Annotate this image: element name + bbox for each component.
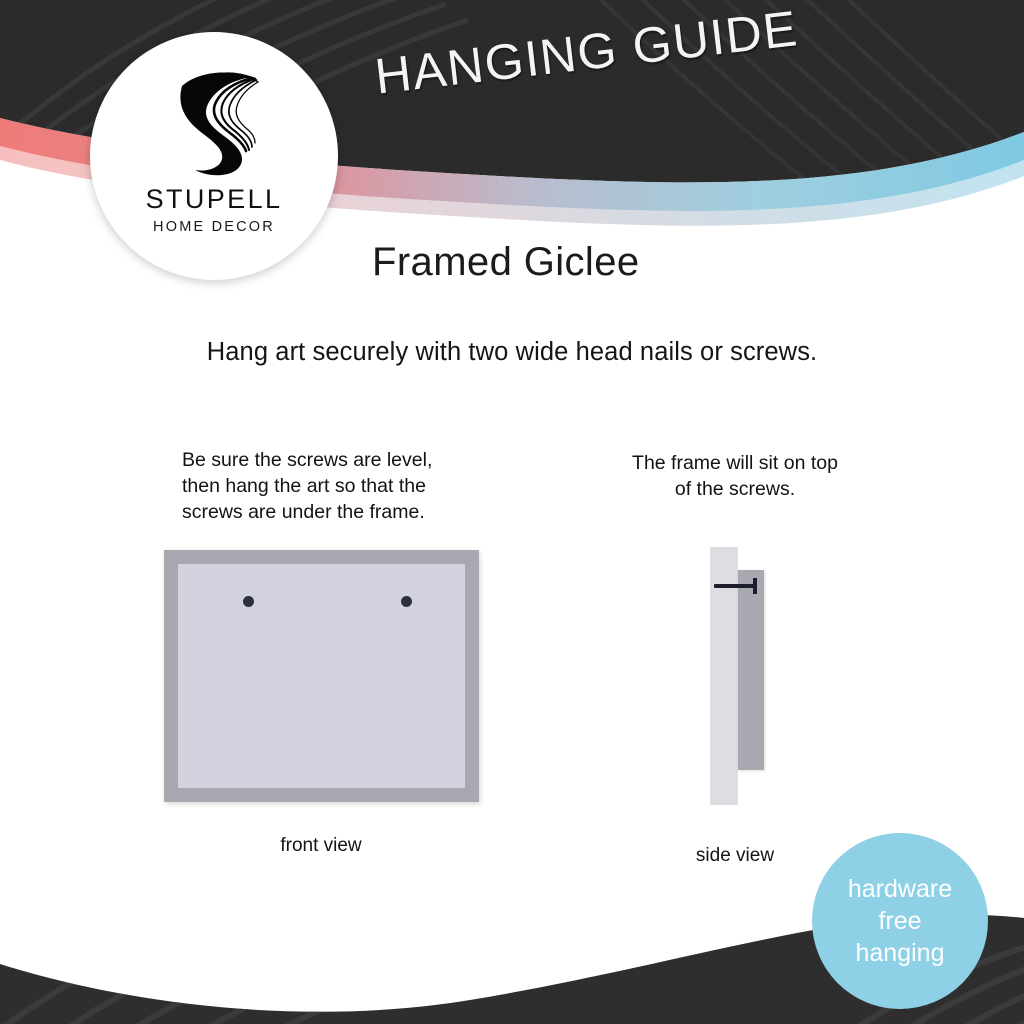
side-view-label: side view [696, 845, 774, 867]
hanging-guide-page: STUPELL HOME DECOR HANGING GUIDE Framed … [0, 0, 1024, 1024]
stupell-swoosh-icon [154, 60, 274, 180]
screw-dot-right [401, 596, 412, 607]
front-view-diagram [164, 550, 479, 802]
badge-line-1: hardware [848, 873, 952, 905]
stupell-logo-badge: STUPELL HOME DECOR [90, 32, 338, 280]
badge-line-2: free [878, 905, 921, 937]
lead-instruction: Hang art securely with two wide head nai… [207, 338, 817, 367]
logo-tagline: HOME DECOR [153, 220, 275, 235]
side-view-frame [738, 570, 764, 770]
side-view-diagram [706, 547, 798, 805]
nail-head-icon [753, 578, 757, 594]
side-view-caption: The frame will sit on top of the screws. [575, 450, 895, 502]
front-view-caption-line-2: then hang the art so that the [182, 473, 482, 499]
hardware-free-hanging-badge: hardware free hanging [812, 833, 988, 1009]
product-title: Framed Giclee [372, 240, 640, 285]
front-view-caption-line-1: Be sure the screws are level, [182, 447, 482, 473]
front-view-mat [178, 564, 465, 788]
front-view-caption: Be sure the screws are level, then hang … [182, 447, 482, 525]
badge-line-3: hanging [856, 937, 945, 969]
logo-wordmark: STUPELL [146, 186, 283, 213]
page-title: HANGING GUIDE [372, 0, 801, 106]
nail-shaft-icon [714, 584, 756, 588]
side-view-caption-line-2: of the screws. [575, 476, 895, 502]
side-view-caption-line-1: The frame will sit on top [575, 450, 895, 476]
front-view-label: front view [280, 835, 361, 857]
front-view-caption-line-3: screws are under the frame. [182, 499, 482, 525]
screw-dot-left [243, 596, 254, 607]
